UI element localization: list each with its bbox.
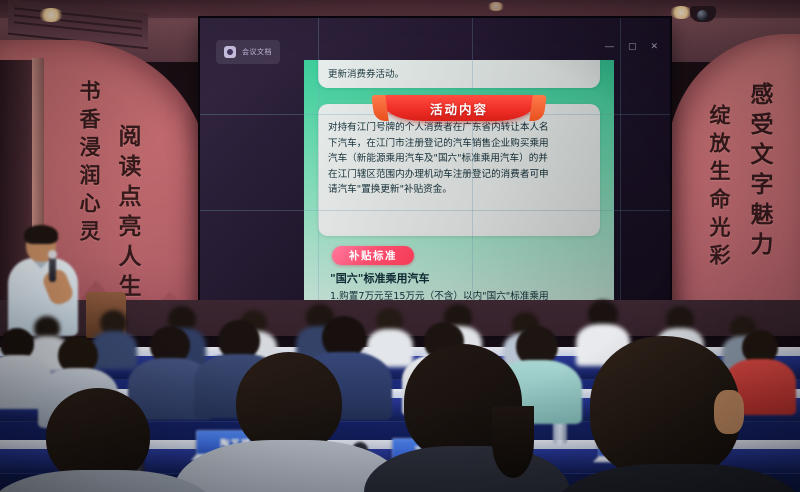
ponytail [492,406,534,478]
window-controls[interactable]: — ▢ ✕ [605,42,658,51]
ceiling-light [487,2,505,11]
slide-paragraph-line: 在江门辖区范围内办理机动车注册登记的消费者可申 [328,167,590,183]
close-icon[interactable]: ✕ [650,42,658,51]
slide-card-previous: 更新消费券活动。 [318,60,600,88]
maximize-icon[interactable]: ▢ [628,42,637,51]
led-panel-seam [318,18,319,348]
slide-paragraph-line: 汽车（新能源乘用汽车及"国六"标准乘用汽车）的并 [328,151,590,167]
minimize-icon[interactable]: — [605,42,614,51]
slide-paragraph-line: 下汽车，在江门市注册登记的汽车销售企业购买乘用 [328,136,590,152]
ribbon-title: 活动内容 [430,99,488,118]
wall-calligraphy-left-1: 书香浸润心灵 [74,80,104,248]
slide-section-ribbon: 活动内容 [383,95,535,121]
slide-subheading: "国六"标准乘用汽车 [330,270,429,286]
speaker-hair [24,225,58,244]
slide-paragraph-line: 对持有江门号牌的个人消费者在广东省内转让本人名 [328,120,590,136]
led-video-wall: 会议文档 — ▢ ✕ 更新消费券活动。 活 [200,18,670,348]
handheld-microphone [49,256,56,282]
wall-calligraphy-right-1: 绽放生命光彩 [704,104,734,272]
led-panel-seam [620,18,621,348]
wall-calligraphy-left-2: 阅读点亮人生 [110,124,144,304]
badge-label: 补贴标准 [349,248,397,263]
slide-body-card: 对持有江门号牌的个人消费者在广东省内转让本人名 下汽车，在江门市注册登记的汽车销… [318,104,600,236]
led-panel-seam [472,18,473,348]
presentation-slide[interactable]: 更新消费券活动。 活动内容 对持有江门号牌的个人消费者在广东省内转让本人名 下汽… [304,60,614,328]
slide-top-fragment: 更新消费券活动。 [328,66,590,80]
wall-calligraphy-right-2: 感受文字魅力 [742,82,776,262]
security-camera [690,6,716,22]
ceiling-light [38,8,64,22]
slide-paragraph-line: 请汽车"置换更新"补贴资金。 [328,182,590,198]
slide-subsidy-badge: 补贴标准 [332,246,414,265]
app-window-title-bar[interactable]: 会议文档 [216,40,280,64]
app-window-name: 会议文档 [242,47,272,57]
ear [714,390,744,434]
led-panel-seam [200,210,670,211]
presentation-app-icon [224,46,236,58]
conference-photo-scene: 书香浸润心灵 阅读点亮人生 绽放生命光彩 感受文字魅力 会议文档 — ▢ ✕ [0,0,800,492]
